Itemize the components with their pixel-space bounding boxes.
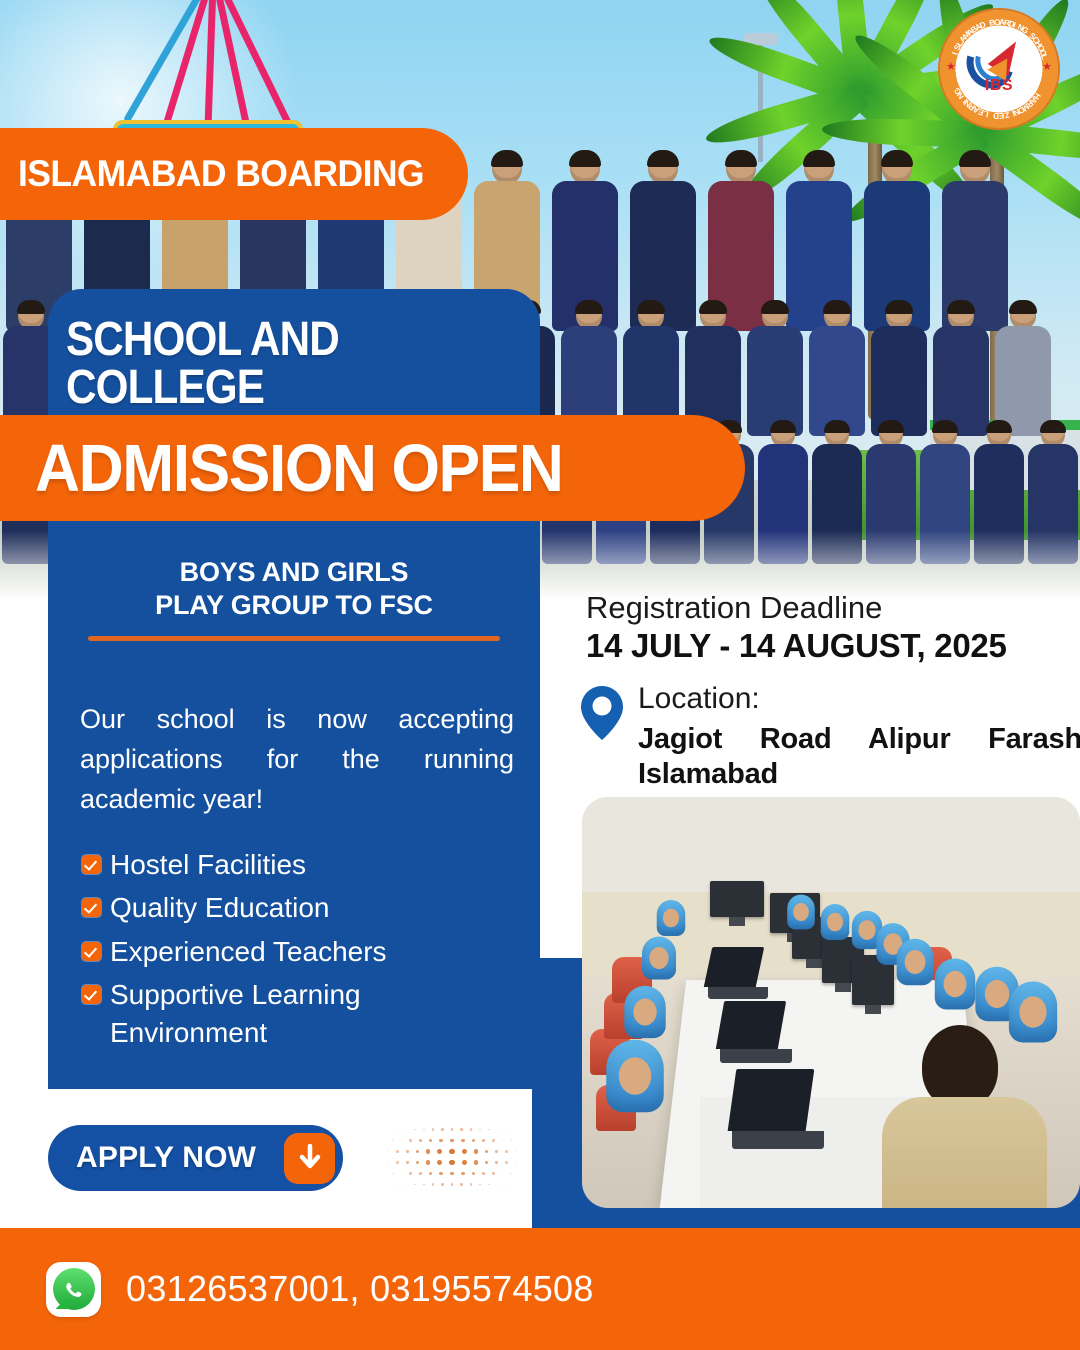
list-item: Experienced Teachers — [82, 933, 522, 971]
registration-deadline-dates: 14 JULY - 14 AUGUST, 2025 — [586, 627, 1007, 665]
list-item: Supportive Learning Environment — [82, 976, 522, 1053]
logo-star-left: ★ — [946, 60, 956, 73]
school-logo: ISLAMABAD BOARDING SCHOOL HARMONIZED LEA… — [940, 10, 1058, 128]
feature-label: Hostel Facilities — [110, 846, 306, 884]
registration-deadline-label: Registration Deadline — [586, 590, 882, 626]
logo-star-right: ★ — [1042, 60, 1052, 73]
feature-label: Experienced Teachers — [110, 933, 387, 971]
headline-admission-open: ADMISSION OPEN — [35, 435, 562, 502]
location-address-text: Jagiot Road Alipur Farash Islamabad — [638, 723, 1080, 790]
logo-emblem: IBS — [957, 27, 1041, 111]
brand-title-text: ISLAMABAD BOARDING — [18, 153, 424, 195]
subheading-line-1: BOYS AND GIRLS — [68, 556, 520, 589]
classroom-photo — [582, 797, 1080, 1208]
apply-now-label: APPLY NOW — [76, 1141, 256, 1175]
arrow-down-icon[interactable] — [284, 1133, 335, 1184]
check-icon — [82, 855, 101, 874]
headline-school-college: SCHOOL AND COLLEGE — [66, 316, 524, 412]
brand-title-banner: ISLAMABAD BOARDING — [0, 128, 468, 220]
logo-monogram: IBS — [957, 77, 1041, 95]
feature-label: Quality Education — [110, 889, 329, 927]
features-list: Hostel Facilities Quality Education Expe… — [82, 846, 522, 1058]
feature-label: Supportive Learning Environment — [110, 976, 522, 1053]
whatsapp-icon[interactable] — [46, 1262, 101, 1317]
teacher-figure — [882, 1025, 1047, 1208]
check-icon — [82, 942, 101, 961]
list-item: Hostel Facilities — [82, 846, 522, 884]
location-address: Jagiot Road Alipur Farash Islamabad — [638, 722, 1080, 792]
contact-footer: 03126537001, 03195574508 — [0, 1228, 1080, 1350]
divider-rule — [88, 636, 500, 641]
headline-admission-banner: ADMISSION OPEN — [0, 415, 745, 521]
dot-pattern-decoration — [378, 1124, 526, 1192]
subheading: BOYS AND GIRLS PLAY GROUP TO FSC — [68, 556, 520, 622]
check-icon — [82, 898, 101, 917]
location-label: Location: — [638, 682, 760, 716]
phone-numbers: 03126537001, 03195574508 — [126, 1268, 594, 1310]
list-item: Quality Education — [82, 889, 522, 927]
subheading-line-2: PLAY GROUP TO FSC — [68, 589, 520, 622]
intro-paragraph: Our school is now accepting applications… — [80, 700, 514, 820]
location-pin-icon — [580, 684, 624, 747]
apply-now-button[interactable]: APPLY NOW — [48, 1125, 343, 1191]
check-icon — [82, 985, 101, 1004]
